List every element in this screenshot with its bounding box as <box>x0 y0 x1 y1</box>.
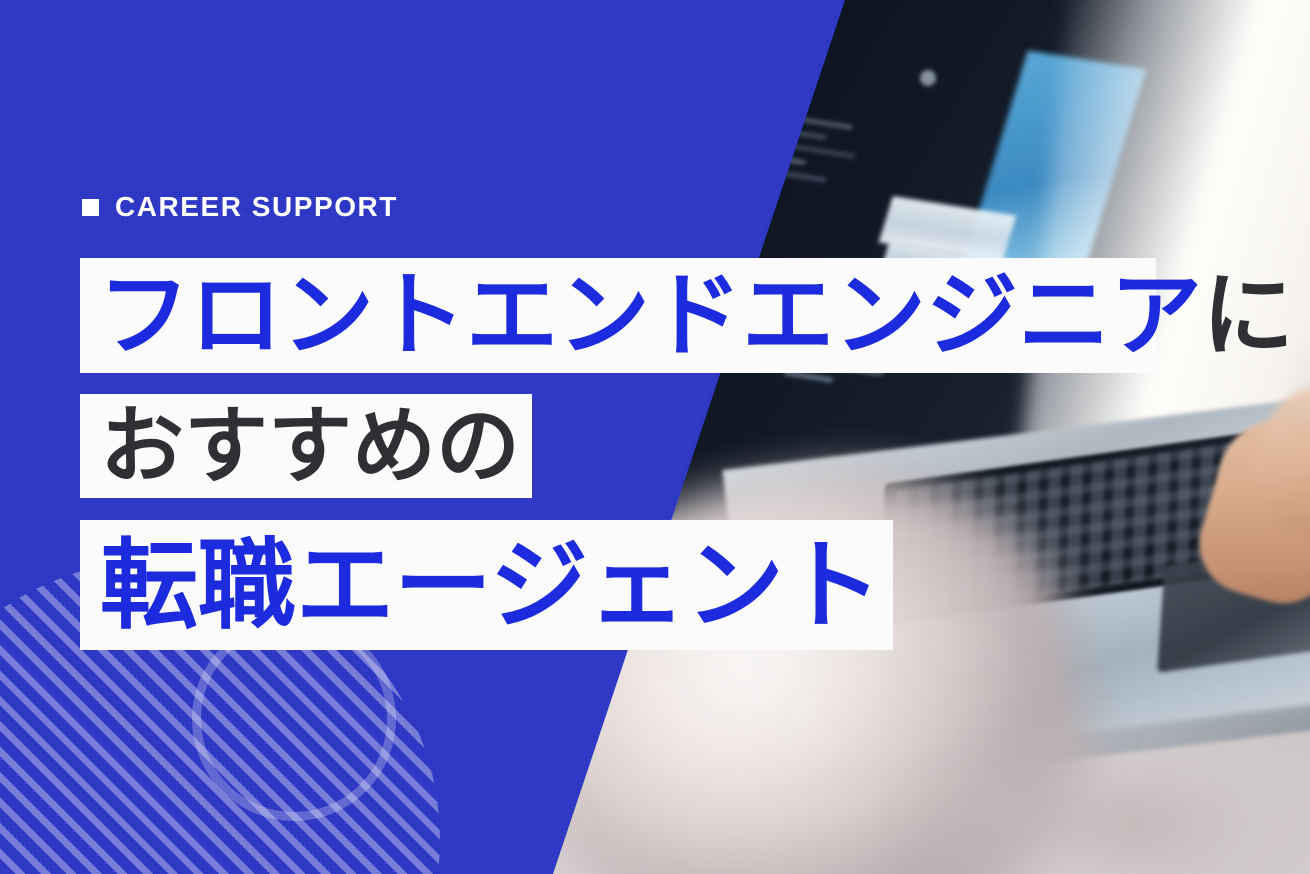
career-support-banner: CAREER SUPPORT フロントエンドエンジニアに おすすめの 転職エージ… <box>0 0 1310 874</box>
headline-line-1: フロントエンドエンジニアに <box>80 258 1156 373</box>
headline-line-1-dark: に <box>1202 270 1294 362</box>
desk-surface-blur <box>900 714 1310 874</box>
headline-line-3: 転職エージェント <box>80 520 893 650</box>
headline-line-1-blue: フロントエンドエンジニア <box>98 270 1202 362</box>
screen-avatar-icon <box>920 70 936 86</box>
eyebrow-label: CAREER SUPPORT <box>115 193 398 221</box>
headline-line-2-dark: おすすめの <box>100 404 520 488</box>
headline-line-2: おすすめの <box>80 394 532 498</box>
square-bullet-icon <box>82 199 99 216</box>
headline-line-3-blue: 転職エージェント <box>100 536 882 634</box>
eyebrow: CAREER SUPPORT <box>82 193 398 221</box>
